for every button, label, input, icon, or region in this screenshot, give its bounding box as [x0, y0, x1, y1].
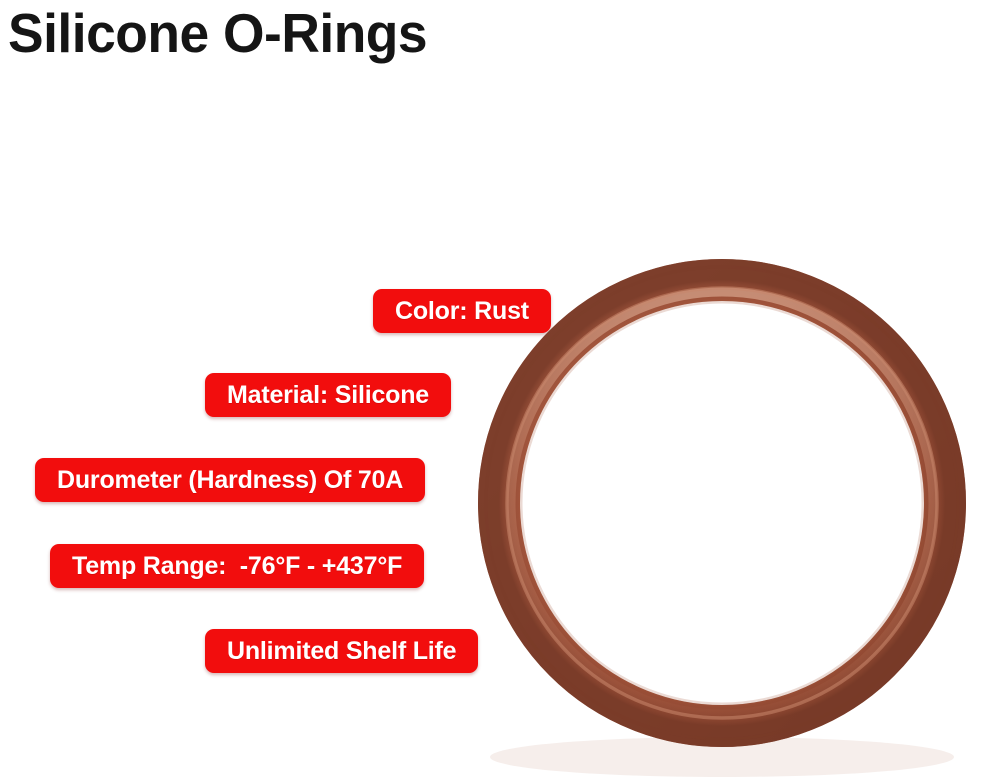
feature-banner-color: Color: Rust	[373, 289, 551, 333]
feature-banner-material: Material: Silicone	[205, 373, 451, 417]
feature-banner-list: Color: Rust Material: Silicone Durometer…	[0, 0, 1000, 781]
product-infographic: Silicone O-Rings Color: Rust Material: S…	[0, 0, 1000, 781]
feature-banner-shelf-life: Unlimited Shelf Life	[205, 629, 478, 673]
feature-banner-temp-range: Temp Range: -76°F - +437°F	[50, 544, 424, 588]
feature-banner-durometer: Durometer (Hardness) Of 70A	[35, 458, 425, 502]
